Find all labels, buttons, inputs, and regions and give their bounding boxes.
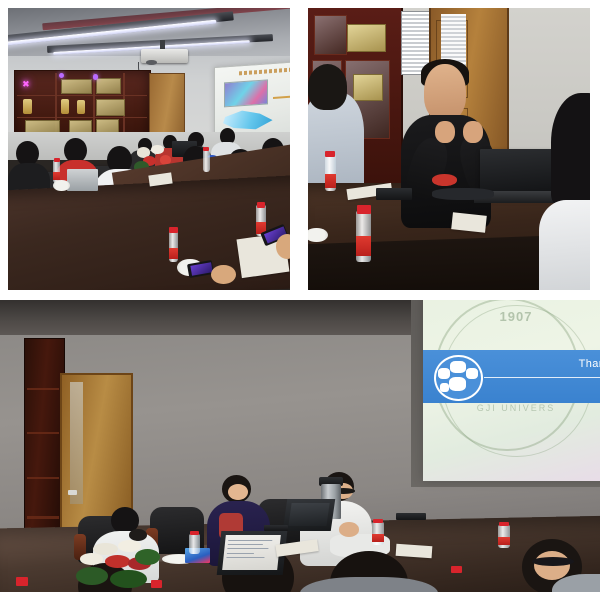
bottle-cap <box>373 519 384 523</box>
flower <box>151 145 163 154</box>
ball-logo-icon <box>434 355 483 401</box>
bottle-label <box>169 248 179 259</box>
trophy <box>77 100 85 114</box>
projection-screen: 1907 GJI UNIVERS Than <box>423 300 600 481</box>
foliage <box>76 567 109 585</box>
logo-segment <box>449 377 467 391</box>
screen-text-line <box>227 557 265 558</box>
slide-heatmap-image <box>224 80 268 108</box>
cabinet-shelf <box>27 477 59 479</box>
logo-segment <box>466 368 478 379</box>
bottle-label <box>356 236 372 256</box>
flower <box>105 555 130 568</box>
desk-device <box>376 188 413 199</box>
cabinet-plaque <box>353 74 383 100</box>
trophy <box>23 99 32 114</box>
attendee-right-white-shirt <box>539 200 590 290</box>
neon-decoration-icon: ✖ <box>22 80 35 100</box>
photo-panel-bottom: 1907 GJI UNIVERS Than <box>0 300 600 592</box>
paper-document <box>451 212 486 232</box>
bottle-cap <box>257 202 265 208</box>
desk-device <box>264 525 288 531</box>
bottle-label <box>372 534 384 543</box>
eyeglasses-icon <box>532 557 574 566</box>
slide-blue-band: Than <box>423 350 600 402</box>
bottle-cap <box>190 531 200 535</box>
bottle-cap <box>16 577 28 586</box>
logo-segment <box>450 361 465 373</box>
attendee-left-head <box>308 64 347 109</box>
slide-divider <box>273 96 290 99</box>
cabinet-shelf <box>27 516 59 518</box>
cabinet-shelf <box>27 432 59 434</box>
laptop[interactable] <box>480 149 556 194</box>
speaker-hand-right <box>463 121 483 144</box>
water-bottle[interactable] <box>203 149 210 172</box>
slide-title-bar <box>239 68 290 76</box>
cabinet-plaque <box>347 24 386 52</box>
bottle-cap <box>451 566 462 574</box>
cabinet-shelf <box>27 388 59 390</box>
speaker-hand-left <box>435 121 455 144</box>
logo-segment <box>440 383 449 391</box>
accent-light <box>93 74 99 80</box>
foliage <box>110 570 146 588</box>
cabinet-plaque <box>61 79 93 94</box>
bottle-cap <box>499 522 510 526</box>
door-handle[interactable] <box>68 490 76 495</box>
bottle-label <box>498 537 510 546</box>
flower <box>80 553 103 565</box>
bottle-cap <box>54 158 60 162</box>
attendee-hand <box>339 522 359 537</box>
slide-underline <box>484 377 600 378</box>
flower-bouquet <box>72 539 168 592</box>
cabinet-plaque <box>96 78 121 94</box>
seal-year-text: 1907 <box>475 309 557 324</box>
laptop-far-screen <box>288 503 330 526</box>
bottle-cap <box>169 227 177 233</box>
speaker-head <box>424 64 466 120</box>
trophy <box>61 99 69 115</box>
bottle-cap <box>325 151 335 157</box>
laptop-near-screen <box>223 535 282 570</box>
flower <box>118 540 141 552</box>
door-glass-strip <box>70 382 83 505</box>
screen-text-line <box>228 548 269 549</box>
screen-text-line <box>229 540 273 541</box>
screen-text-line <box>228 553 255 554</box>
photo-panel-top-left: ✖ <box>8 8 290 290</box>
bottle-label <box>53 172 60 180</box>
bottle-cap <box>203 147 209 151</box>
desk-device <box>396 513 426 520</box>
cabinet-shelf <box>17 117 147 118</box>
cabinet-certificate <box>96 99 125 116</box>
foliage <box>135 549 160 565</box>
attendee-head-back <box>16 141 39 166</box>
laptop[interactable] <box>67 169 98 192</box>
logo-segment <box>438 368 450 379</box>
seal-university-text: GJI UNIVERS <box>438 403 594 413</box>
screen-text-line <box>228 544 262 545</box>
red-lanyard <box>432 174 457 185</box>
bottle-cap <box>357 205 371 213</box>
photo-collage: ✖ <box>0 0 600 600</box>
water-bottle[interactable] <box>189 534 200 554</box>
photo-panel-top-right <box>308 8 590 290</box>
cables <box>432 188 494 199</box>
slide-thank-you-text: Than <box>497 358 600 370</box>
cabinet-shelf <box>17 95 147 96</box>
cabinet-glass-pane <box>314 15 348 55</box>
bottle-label <box>325 174 336 188</box>
